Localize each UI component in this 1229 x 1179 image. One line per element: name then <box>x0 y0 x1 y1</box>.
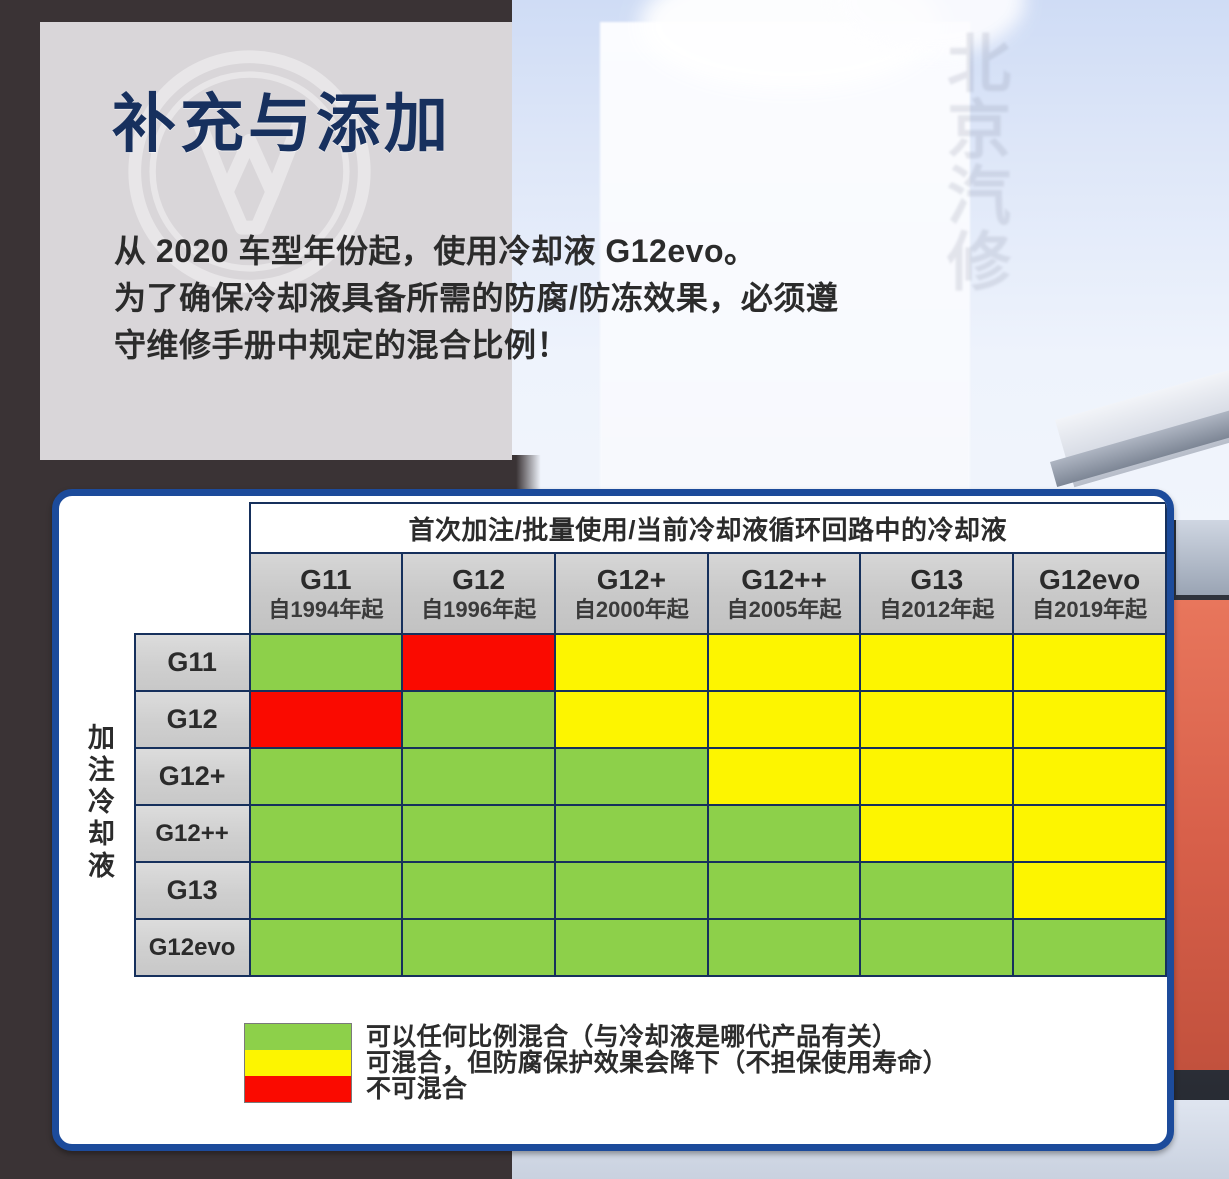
matrix-cell-g12evo-g11 <box>250 919 403 976</box>
row-header-g12: G12 <box>135 691 250 748</box>
matrix-cell-g12-g12++ <box>708 691 861 748</box>
column-header-since: 自2005年起 <box>709 598 860 622</box>
legend-swatch-r <box>245 1076 351 1102</box>
column-header-g13: G13自2012年起 <box>860 553 1013 634</box>
matrix-cell-g11-g12 <box>402 634 555 691</box>
matrix-cell-g12-g12+ <box>555 691 708 748</box>
column-header-name: G11 <box>251 565 402 596</box>
column-header-spacer <box>135 553 250 634</box>
matrix-cell-g12+-g11 <box>250 748 403 805</box>
column-header-name: G12++ <box>709 565 860 596</box>
row-header-g12++: G12++ <box>135 805 250 862</box>
legend-swatch-stack <box>244 1023 352 1103</box>
matrix-cell-g11-g12++ <box>708 634 861 691</box>
intro-paragraph: 从 2020 车型年份起，使用冷却液 G12evo。 为了确保冷却液具备所需的防… <box>114 228 1114 369</box>
matrix-cell-g12++-g12 <box>402 805 555 862</box>
legend: 可以任何比例混合（与冷却液是哪代产品有关）可混合，但防腐保护效果会降下（不担保使… <box>244 1023 948 1103</box>
coolant-compatibility-card: 首次加注/批量使用/当前冷却液循环回路中的冷却液 G11自1994年起G12自1… <box>52 489 1174 1151</box>
column-header-name: G12+ <box>556 565 707 596</box>
table-row: G12+ <box>63 748 1166 805</box>
column-header-since: 自1994年起 <box>251 598 402 622</box>
matrix-cell-g12++-g12+ <box>555 805 708 862</box>
column-header-name: G12evo <box>1014 565 1165 596</box>
column-header-g12: G12自1996年起 <box>402 553 555 634</box>
legend-swatch-y <box>245 1050 351 1076</box>
matrix-cell-g12evo-g12++ <box>708 919 861 976</box>
slide-canvas: 北京汽修 补充与添加 从 2020 车型年份起，使用冷却液 G12evo。 为了… <box>0 0 1229 1179</box>
matrix-cell-g12+-g12 <box>402 748 555 805</box>
column-header-since: 自2019年起 <box>1014 598 1165 622</box>
matrix-cell-g12evo-g12+ <box>555 919 708 976</box>
matrix-cell-g12++-g12evo <box>1013 805 1166 862</box>
legend-label-y: 可混合，但防腐保护效果会降下（不担保使用寿命） <box>366 1050 948 1076</box>
table-row: G12 <box>63 691 1166 748</box>
column-header-name: G12 <box>403 565 554 596</box>
matrix-cell-g11-g12evo <box>1013 634 1166 691</box>
intro-line-3: 守维修手册中规定的混合比例！ <box>114 322 1114 369</box>
row-header-g13: G13 <box>135 862 250 919</box>
matrix-cell-g12++-g13 <box>860 805 1013 862</box>
matrix-cell-g11-g12+ <box>555 634 708 691</box>
table-row: 加注冷却液G11 <box>63 634 1166 691</box>
matrix-cell-g12++-g12++ <box>708 805 861 862</box>
matrix-cell-g13-g11 <box>250 862 403 919</box>
corner-cell-rowlabel <box>135 503 250 553</box>
matrix-cell-g12+-g12evo <box>1013 748 1166 805</box>
matrix-cell-g12-g13 <box>860 691 1013 748</box>
page-title: 补充与添加 <box>112 92 452 156</box>
matrix-cell-g12+-g12++ <box>708 748 861 805</box>
intro-line-1: 从 2020 车型年份起，使用冷却液 G12evo。 <box>114 228 1114 275</box>
matrix-cell-g13-g12++ <box>708 862 861 919</box>
matrix-cell-g12-g12evo <box>1013 691 1166 748</box>
matrix-cell-g13-g12+ <box>555 862 708 919</box>
column-header-g11: G11自1994年起 <box>250 553 403 634</box>
matrix-cell-g12+-g13 <box>860 748 1013 805</box>
column-header-g12evo: G12evo自2019年起 <box>1013 553 1166 634</box>
background-building-window <box>1176 520 1229 595</box>
matrix-cell-g12-g11 <box>250 691 403 748</box>
table-row: G12evo <box>63 919 1166 976</box>
coolant-compatibility-table: 首次加注/批量使用/当前冷却液循环回路中的冷却液 G11自1994年起G12自1… <box>63 502 1167 977</box>
row-header-g11: G11 <box>135 634 250 691</box>
column-group-header: 首次加注/批量使用/当前冷却液循环回路中的冷却液 <box>250 503 1167 553</box>
matrix-cell-g12++-g11 <box>250 805 403 862</box>
legend-label-g: 可以任何比例混合（与冷却液是哪代产品有关） <box>366 1024 948 1050</box>
column-header-since: 自2000年起 <box>556 598 707 622</box>
intro-line-2: 为了确保冷却液具备所需的防腐/防冻效果，必须遵 <box>114 275 1114 322</box>
corner-cell-empty <box>63 503 135 634</box>
table-row: G12++ <box>63 805 1166 862</box>
table-group-header-row: 首次加注/批量使用/当前冷却液循环回路中的冷却液 <box>63 503 1166 553</box>
matrix-cell-g13-g12 <box>402 862 555 919</box>
row-header-g12evo: G12evo <box>135 919 250 976</box>
column-header-since: 自1996年起 <box>403 598 554 622</box>
matrix-cell-g12evo-g12evo <box>1013 919 1166 976</box>
matrix-cell-g11-g13 <box>860 634 1013 691</box>
matrix-cell-g11-g11 <box>250 634 403 691</box>
column-header-since: 自2012年起 <box>861 598 1012 622</box>
row-header-g12+: G12+ <box>135 748 250 805</box>
table-body: 加注冷却液G11G12G12+G12++G13G12evo <box>63 634 1166 976</box>
legend-label-r: 不可混合 <box>366 1076 948 1102</box>
table-column-header-row: G11自1994年起G12自1996年起G12+自2000年起G12++自200… <box>63 553 1166 634</box>
row-group-label-text: 加注冷却液 <box>85 723 112 883</box>
column-header-g12++: G12++自2005年起 <box>708 553 861 634</box>
column-header-g12+: G12+自2000年起 <box>555 553 708 634</box>
matrix-cell-g13-g12evo <box>1013 862 1166 919</box>
matrix-cell-g12-g12 <box>402 691 555 748</box>
matrix-cell-g12evo-g13 <box>860 919 1013 976</box>
legend-swatch-g <box>245 1024 351 1050</box>
table-row: G13 <box>63 862 1166 919</box>
matrix-cell-g12evo-g12 <box>402 919 555 976</box>
matrix-cell-g12+-g12+ <box>555 748 708 805</box>
matrix-cell-g13-g13 <box>860 862 1013 919</box>
row-group-label: 加注冷却液 <box>63 634 135 976</box>
table-head: 首次加注/批量使用/当前冷却液循环回路中的冷却液 G11自1994年起G12自1… <box>63 503 1166 634</box>
column-header-name: G13 <box>861 565 1012 596</box>
background-building-orange <box>1170 600 1229 1070</box>
legend-text-stack: 可以任何比例混合（与冷却液是哪代产品有关）可混合，但防腐保护效果会降下（不担保使… <box>366 1023 948 1102</box>
